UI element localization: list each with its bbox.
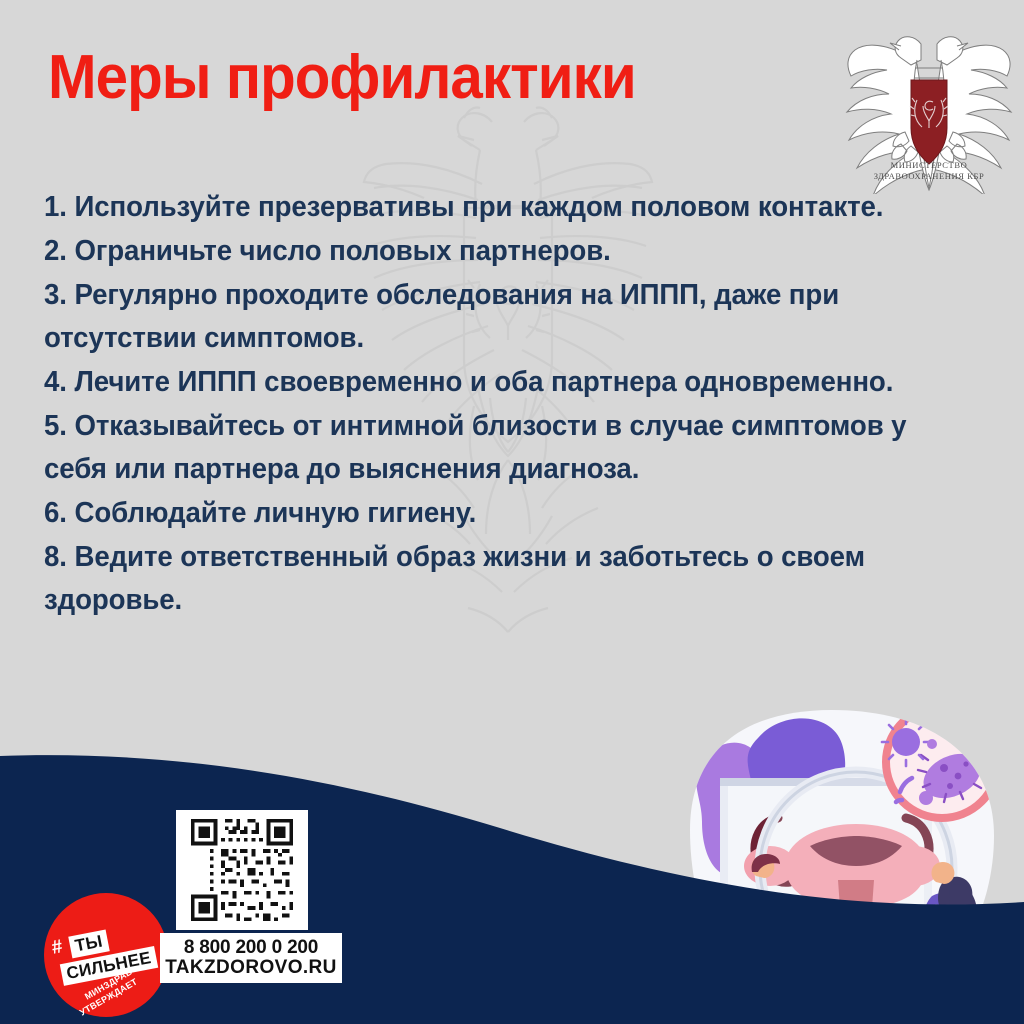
emblem-caption-line1: МИНИСТЕРСТВО: [845, 160, 1013, 171]
emblem-caption-line2: ЗДРАВООХРАНЕНИЯ КБР: [845, 171, 1013, 182]
contact-box[interactable]: 8 800 200 0 200 TAKZDOROVO.RU: [160, 933, 342, 983]
list-item: 1. Используйте презервативы при каждом п…: [44, 186, 956, 229]
list-item: 5. Отказывайтесь от интимной близости в …: [44, 405, 956, 491]
website-url: TAKZDOROVO.RU: [165, 958, 337, 978]
emblem-caption: МИНИСТЕРСТВО ЗДРАВООХРАНЕНИЯ КБР: [845, 160, 1013, 183]
ty-silnee-badge: # ТЫ СИЛЬНЕЕ МИНЗДРАВ УТВЕРЖДАЕТ: [44, 893, 168, 1017]
infographic-canvas: МИНИСТЕРСТВО ЗДРАВООХРАНЕНИЯ КБР Меры пр…: [0, 0, 1024, 1024]
prevention-list: 1. Используйте презервативы при каждом п…: [44, 186, 984, 623]
hotline-phone: 8 800 200 0 200: [184, 938, 318, 958]
page-title: Меры профилактики: [48, 42, 636, 113]
list-item: 8. Ведите ответственный образ жизни и за…: [44, 536, 956, 622]
badge-word-ty: ТЫ: [68, 930, 109, 959]
qr-code[interactable]: [176, 810, 308, 930]
list-item: 4. Лечите ИППП своевременно и оба партне…: [44, 361, 956, 404]
list-item: 6. Соблюдайте личную гигиену.: [44, 492, 956, 535]
hash-icon: #: [50, 936, 65, 960]
list-item: 2. Ограничьте число половых партнеров.: [44, 230, 956, 273]
list-item: 3. Регулярно проходите обследования на И…: [44, 274, 956, 360]
